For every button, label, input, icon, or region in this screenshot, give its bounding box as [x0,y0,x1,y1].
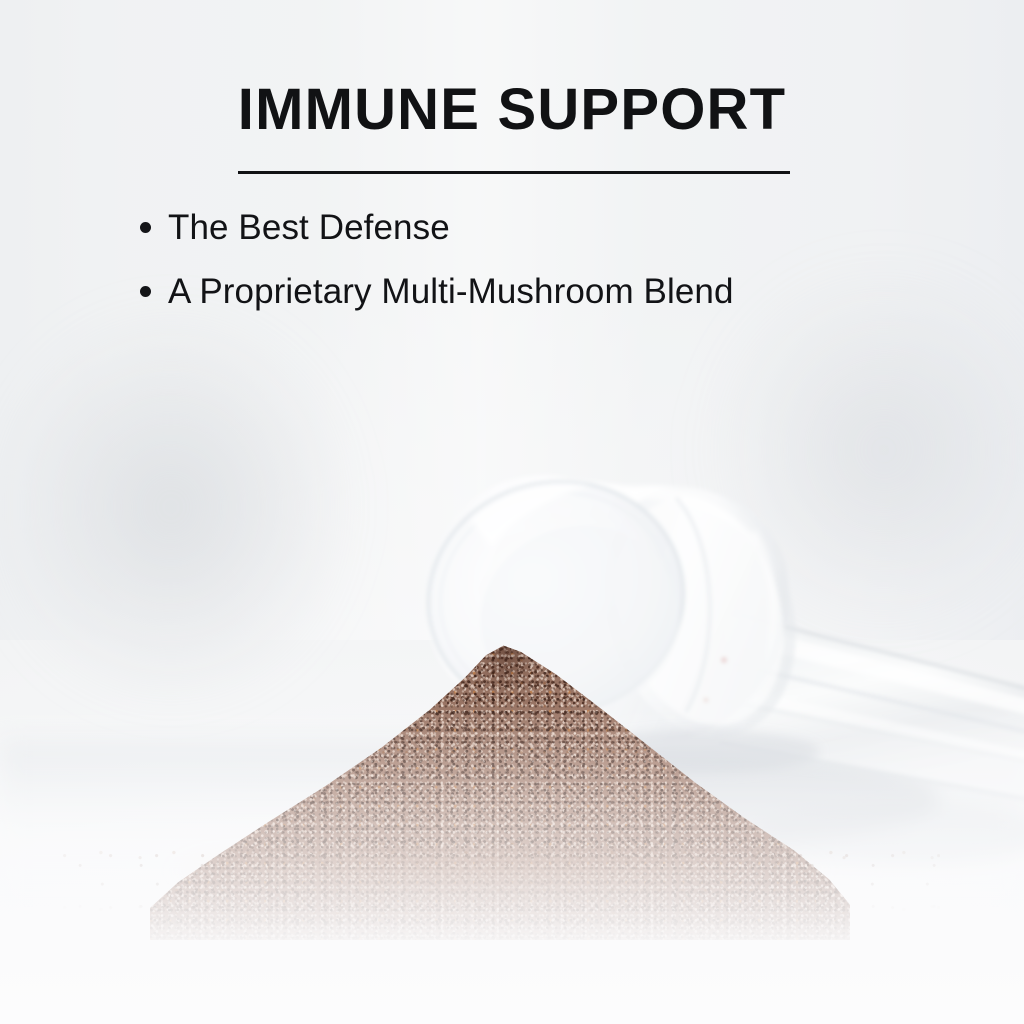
page-title: IMMUNE SUPPORT [0,78,1024,142]
list-item: A Proprietary Multi-Mushroom Blend [140,270,960,314]
headline-block: IMMUNE SUPPORT [0,78,1024,142]
product-lifestyle-image: IMMUNE SUPPORT The Best Defense A Propri… [0,0,1024,1024]
title-divider [238,171,790,174]
benefit-list: The Best Defense A Proprietary Multi-Mus… [140,206,960,334]
benefit-label: A Proprietary Multi-Mushroom Blend [168,270,734,314]
list-item: The Best Defense [140,206,960,250]
benefit-label: The Best Defense [168,206,450,250]
bullet-dot-icon [140,222,151,233]
bullet-dot-icon [140,286,151,297]
foreground-fade [0,704,1024,1024]
